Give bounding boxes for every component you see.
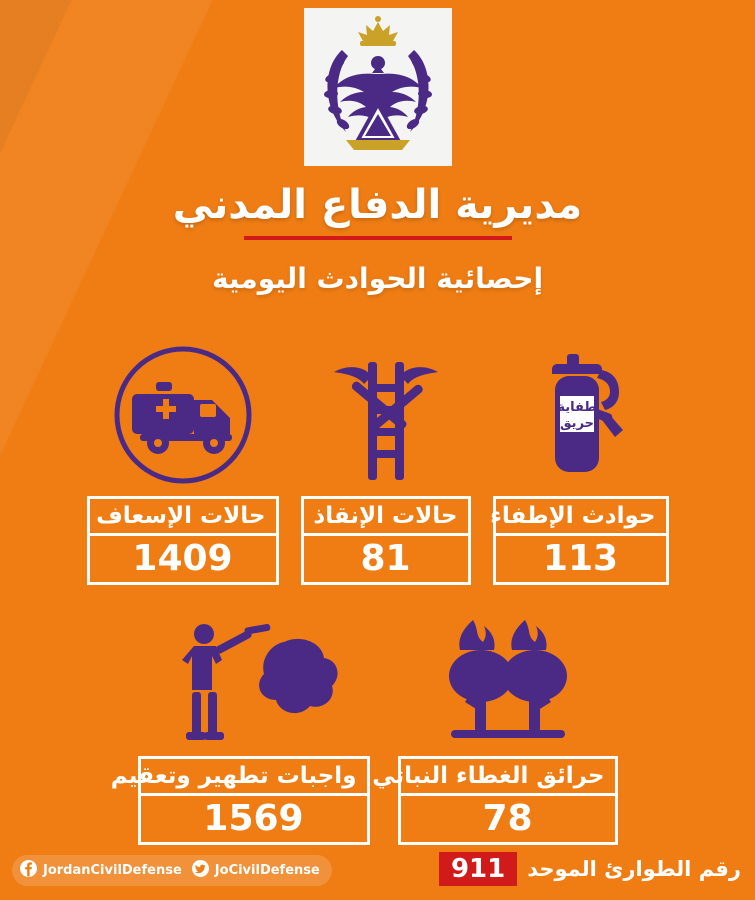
stat-box-ambulance: حالات الإسعاف 1409: [87, 496, 279, 585]
footer: JordanCivilDefense JoCivilDefense رقم ال…: [0, 838, 755, 900]
stat-label-disinfection: واجبات تطهير وتعقيم: [151, 761, 357, 791]
stats-row-secondary: حرائق الغطاء النباتي 78: [0, 600, 755, 845]
stat-box-disinfection: واجبات تطهير وتعقيم 1569: [138, 756, 370, 845]
stat-value-ambulance: 1409: [100, 538, 266, 580]
stat-box-firefighting: حوادث الإطفاء 113: [493, 496, 669, 585]
sprayer-icon: [164, 600, 344, 748]
ladder-axe-icon: [316, 340, 456, 488]
civil-defense-logo: [304, 8, 452, 166]
stat-card-rescue: حالات الإنقاذ 81: [301, 340, 471, 585]
stat-value-firefighting: 113: [506, 538, 656, 580]
divider: [90, 533, 276, 536]
divider: [141, 793, 367, 796]
extinguisher-label-line2: حريق: [559, 416, 593, 431]
twitter-account[interactable]: JoCivilDefense: [192, 860, 320, 881]
facebook-icon: [20, 860, 37, 881]
stat-label-vegetation: حرائق الغطاء النباتي: [411, 761, 605, 791]
ambulance-icon: [110, 340, 256, 488]
facebook-handle: JordanCivilDefense: [43, 863, 182, 878]
divider: [496, 533, 666, 536]
stat-label-rescue: حالات الإنقاذ: [314, 501, 458, 531]
twitter-icon: [192, 860, 209, 881]
twitter-handle: JoCivilDefense: [215, 863, 320, 878]
stat-value-vegetation: 78: [411, 798, 605, 840]
stat-label-firefighting: حوادث الإطفاء: [506, 501, 656, 531]
stat-box-rescue: حالات الإنقاذ 81: [301, 496, 471, 585]
stat-card-firefighting: طفاية حريق حوادث الإطفاء 113: [493, 340, 669, 585]
trees-fire-icon: [433, 600, 583, 748]
divider: [304, 533, 468, 536]
emergency-info: رقم الطوارئ الموحد 911: [439, 852, 741, 886]
facebook-account[interactable]: JordanCivilDefense: [20, 860, 182, 881]
emergency-number: 911: [439, 852, 517, 886]
emergency-label: رقم الطوارئ الموحد: [527, 857, 741, 881]
extinguisher-label-line1: طفاية: [557, 400, 596, 415]
stat-card-ambulance: حالات الإسعاف 1409: [87, 340, 279, 585]
stats-row-primary: طفاية حريق حوادث الإطفاء 113: [0, 340, 755, 585]
social-bar: JordanCivilDefense JoCivilDefense: [12, 855, 332, 886]
stat-card-vegetation: حرائق الغطاء النباتي 78: [398, 600, 618, 845]
stat-card-disinfection: واجبات تطهير وتعقيم 1569: [138, 600, 370, 845]
stat-value-rescue: 81: [314, 538, 458, 580]
infographic-page: مديرية الدفاع المدني إحصائية الحوادث الي…: [0, 0, 755, 900]
title-underline: [244, 236, 512, 240]
page-title: مديرية الدفاع المدني: [0, 182, 755, 228]
divider: [401, 793, 615, 796]
stat-box-vegetation: حرائق الغطاء النباتي 78: [398, 756, 618, 845]
page-subtitle: إحصائية الحوادث اليومية: [0, 262, 755, 295]
stat-value-disinfection: 1569: [151, 798, 357, 840]
fire-extinguisher-icon: طفاية حريق: [527, 340, 635, 488]
stat-label-ambulance: حالات الإسعاف: [100, 501, 266, 531]
